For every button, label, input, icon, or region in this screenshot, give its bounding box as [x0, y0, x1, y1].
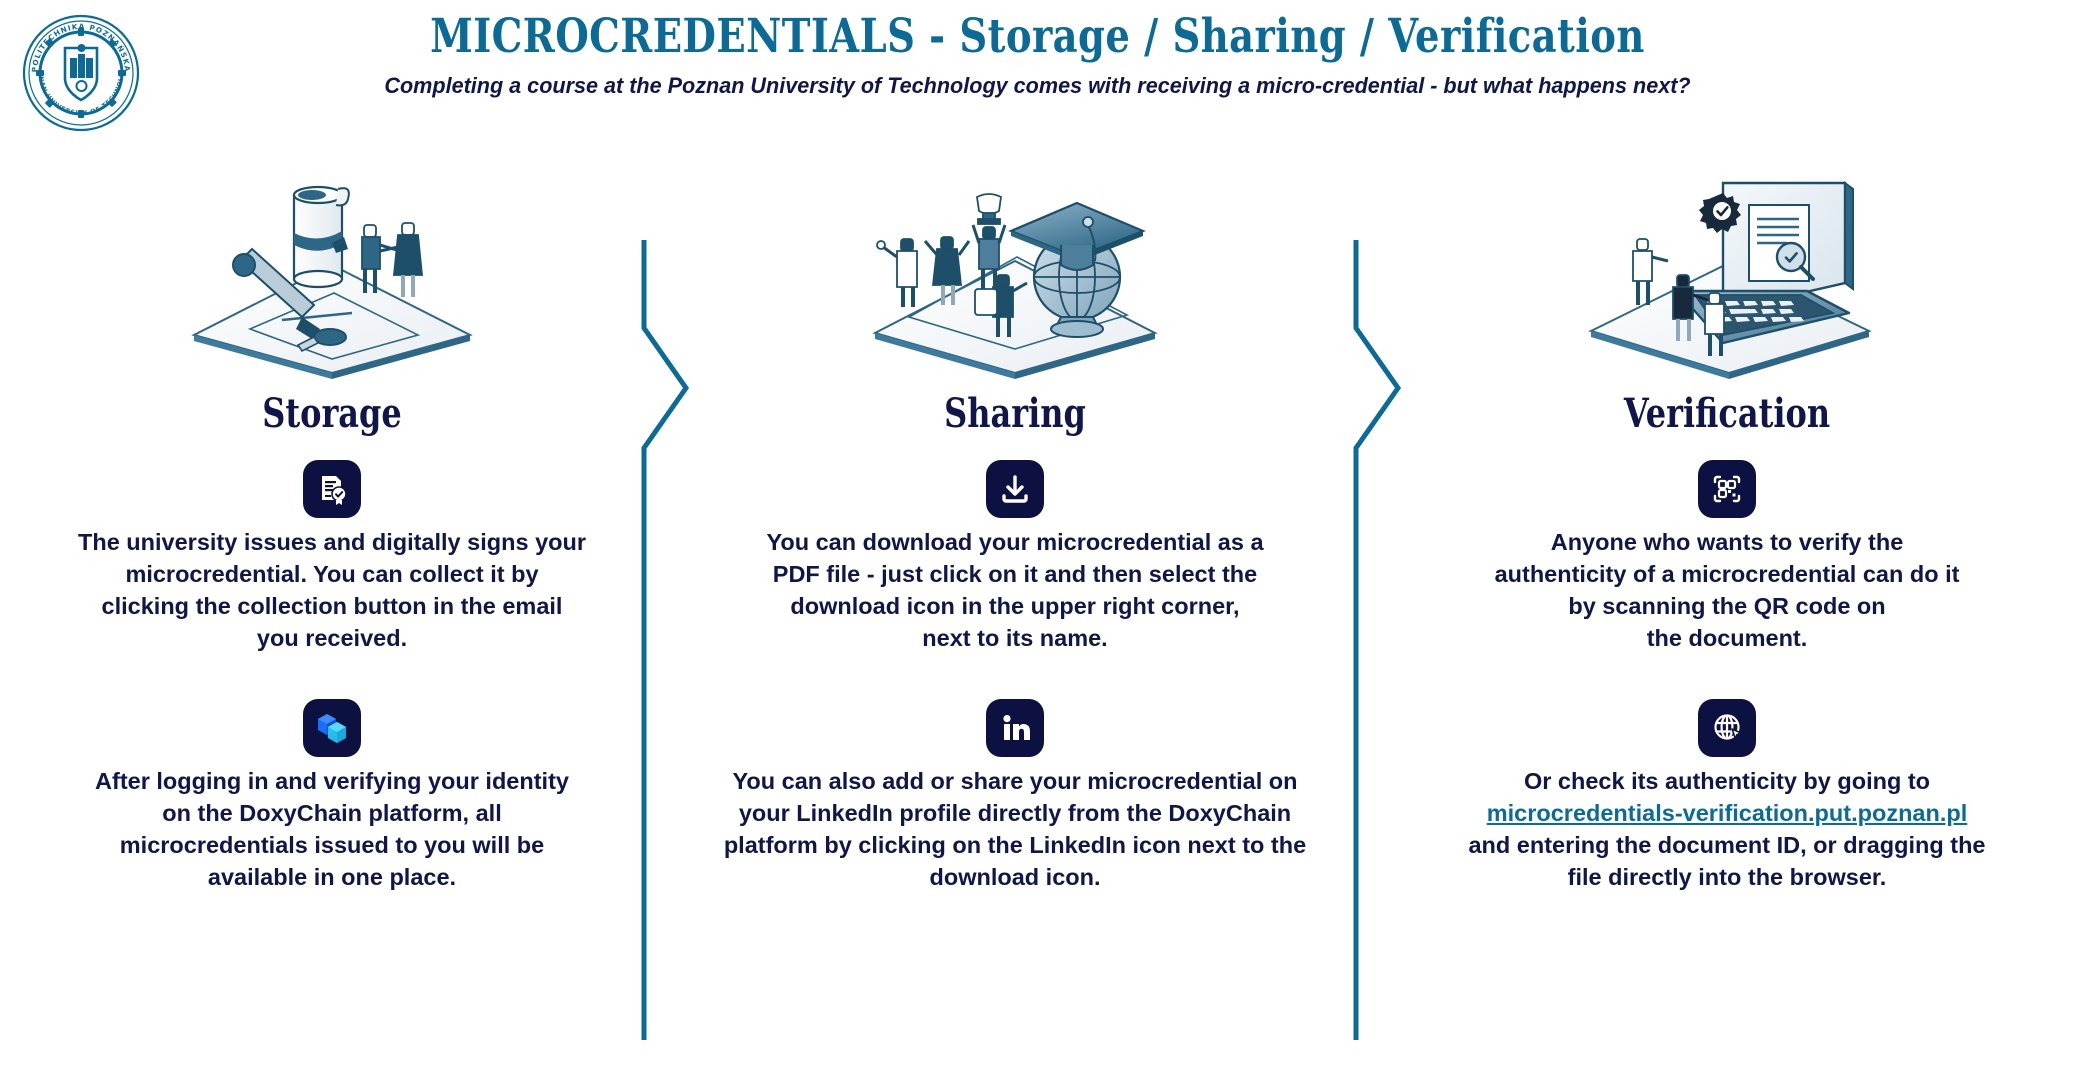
diploma-scroll-signing-illustration	[12, 150, 652, 380]
header: MICROCREDENTIALS - Storage / Sharing / V…	[0, 12, 2075, 99]
qr-code-icon[interactable]	[1698, 460, 1756, 518]
storage-block-2: After logging in and verifying your iden…	[12, 699, 652, 894]
doxychain-cubes-icon[interactable]	[303, 699, 361, 757]
columns-container: Storage The university issu	[0, 150, 2075, 1050]
column-sharing: Sharing You can download your microcrede…	[695, 150, 1335, 894]
page-title: MICROCREDENTIALS - Storage / Sharing / V…	[187, 12, 1889, 61]
sharing-text-1: You can download your microcredential as…	[715, 527, 1315, 655]
storage-text-2: After logging in and verifying your iden…	[32, 766, 632, 894]
column-verification: Verification	[1407, 150, 2047, 894]
page-subtitle: Completing a course at the Poznan Univer…	[42, 73, 2034, 99]
verification-text-before: Or check its authenticity by going to	[1524, 768, 1930, 794]
globe-web-icon[interactable]	[1698, 699, 1756, 757]
verification-text-1: Anyone who wants to verify the authentic…	[1427, 527, 2027, 655]
certificate-document-icon[interactable]	[303, 460, 361, 518]
column-heading-verification: Verification	[1471, 394, 1983, 434]
storage-text-1: The university issues and digitally sign…	[32, 527, 632, 655]
column-heading-storage: Storage	[76, 394, 588, 434]
sharing-block-1: You can download your microcredential as…	[695, 460, 1335, 655]
verification-text-after: and entering the document ID, or draggin…	[1468, 832, 1985, 890]
verification-link[interactable]: microcredentials-verification.put.poznan…	[1487, 800, 1968, 826]
infographic-page: POLITECHNIKA POZNAŃSKA POZNAN UNIVERSITY…	[0, 0, 2075, 1080]
sharing-block-2: You can also add or share your microcred…	[695, 699, 1335, 894]
download-icon[interactable]	[986, 460, 1044, 518]
globe-graduation-cap-illustration	[695, 150, 1335, 380]
column-heading-sharing: Sharing	[759, 394, 1271, 434]
linkedin-icon[interactable]	[986, 699, 1044, 757]
verification-block-1: Anyone who wants to verify the authentic…	[1407, 460, 2047, 655]
storage-block-1: The university issues and digitally sign…	[12, 460, 652, 655]
column-storage: Storage The university issu	[12, 150, 652, 894]
laptop-document-magnifier-illustration	[1407, 150, 2047, 380]
sharing-text-2: You can also add or share your microcred…	[715, 766, 1315, 894]
verification-text-2: Or check its authenticity by going to mi…	[1427, 766, 2027, 894]
verification-block-2: Or check its authenticity by going to mi…	[1407, 699, 2047, 894]
